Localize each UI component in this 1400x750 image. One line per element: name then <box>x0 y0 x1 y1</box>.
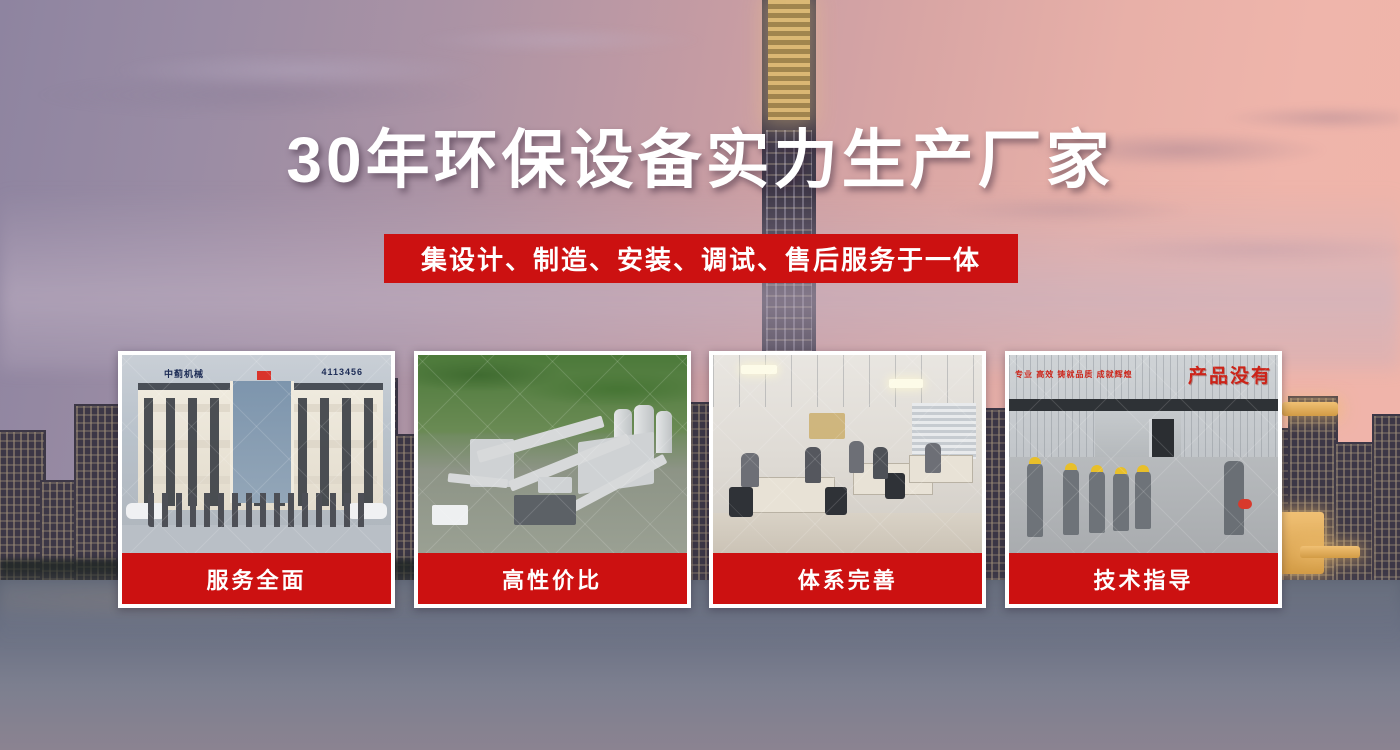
factory-slogan-small: 专业 高效 铸就品质 成就辉煌 <box>1015 369 1133 381</box>
building-phone-text: 4113456 <box>321 367 363 377</box>
promo-banner: 30年环保设备实力生产厂家 集设计、制造、安装、调试、售后服务于一体 中蓟机械 … <box>0 0 1400 750</box>
feature-card[interactable]: 中蓟机械 4113456 服务全面 <box>118 351 395 608</box>
card-caption: 体系完善 <box>713 553 982 604</box>
building-sign-text: 中蓟机械 <box>164 367 204 380</box>
feature-card[interactable]: 高性价比 <box>414 351 691 608</box>
card-caption: 技术指导 <box>1009 553 1278 604</box>
card-caption: 服务全面 <box>122 553 391 604</box>
card-image-worker-training: 产品没有 专业 高效 铸就品质 成就辉煌 <box>1009 355 1278 553</box>
feature-card[interactable]: 产品没有 专业 高效 铸就品质 成就辉煌 技术指导 <box>1005 351 1282 608</box>
card-image-plant-aerial <box>418 355 687 553</box>
factory-slogan-large: 产品没有 <box>1188 361 1272 388</box>
feature-card[interactable]: 体系完善 <box>709 351 986 608</box>
card-caption: 高性价比 <box>418 553 687 604</box>
card-image-office-interior <box>713 355 982 553</box>
staff-lineup <box>148 493 372 527</box>
subtitle-text: 集设计、制造、安装、调试、售后服务于一体 <box>421 240 981 277</box>
feature-card-list: 中蓟机械 4113456 服务全面 <box>118 351 1282 608</box>
card-image-office-building: 中蓟机械 4113456 <box>122 355 391 553</box>
flag-icon <box>257 371 271 380</box>
page-title: 30年环保设备实力生产厂家 <box>0 128 1400 192</box>
subtitle-bar: 集设计、制造、安装、调试、售后服务于一体 <box>384 234 1018 283</box>
